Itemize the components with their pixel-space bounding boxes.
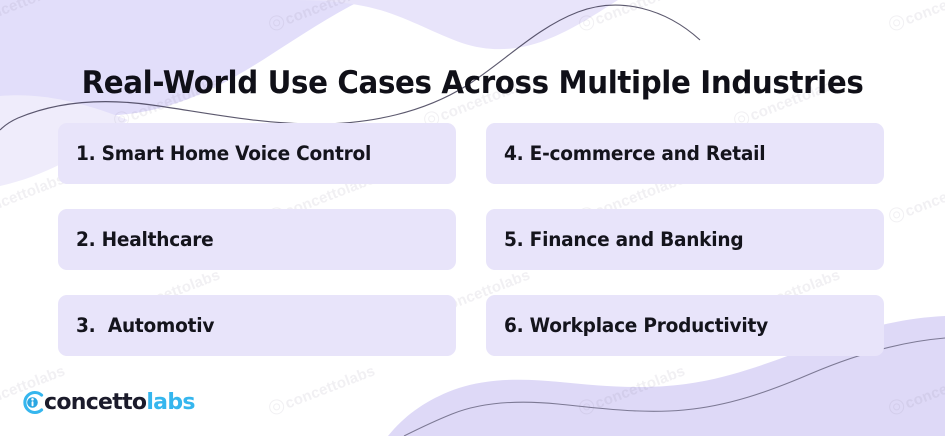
use-case-item-4[interactable]: 4. E-commerce and Retail	[486, 123, 884, 184]
watermark-text: concettolabs	[577, 0, 688, 34]
use-case-label: 1. Smart Home Voice Control	[76, 142, 371, 165]
copyright-circle-icon	[887, 205, 906, 224]
page-title: Real-World Use Cases Across Multiple Ind…	[33, 65, 912, 101]
use-case-label: 3. Automotiv	[76, 314, 214, 337]
watermark-text: concettolabs	[577, 362, 688, 418]
watermark-text: concettolabs	[267, 362, 378, 418]
copyright-circle-icon	[267, 13, 286, 32]
watermark-text: concettolabs	[887, 362, 945, 418]
logo-word-primary: concetto	[44, 392, 146, 414]
concetto-circle-icon	[20, 390, 45, 415]
use-case-label: 6. Workplace Productivity	[504, 314, 768, 337]
use-case-item-6[interactable]: 6. Workplace Productivity	[486, 295, 884, 356]
use-case-label: 5. Finance and Banking	[504, 228, 743, 251]
watermark-text: concettolabs	[887, 0, 945, 34]
use-case-grid: 1. Smart Home Voice Control 4. E-commerc…	[58, 123, 884, 356]
use-case-item-3[interactable]: 3. Automotiv	[58, 295, 456, 356]
use-case-label: 2. Healthcare	[76, 228, 213, 251]
copyright-circle-icon	[267, 397, 286, 416]
use-case-item-5[interactable]: 5. Finance and Banking	[486, 209, 884, 270]
use-case-item-1[interactable]: 1. Smart Home Voice Control	[58, 123, 456, 184]
watermark-text: concettolabs	[887, 170, 945, 226]
copyright-circle-icon	[577, 397, 596, 416]
top-center-blob	[288, 0, 618, 49]
watermark-text: concettolabs	[0, 0, 68, 34]
use-case-item-2[interactable]: 2. Healthcare	[58, 209, 456, 270]
use-case-label: 4. E-commerce and Retail	[504, 142, 765, 165]
logo-word-secondary: labs	[146, 392, 194, 414]
copyright-circle-icon	[887, 397, 906, 416]
concettolabs-logo[interactable]: concettolabs	[20, 390, 195, 415]
logo-wordmark: concettolabs	[44, 392, 195, 414]
copyright-circle-icon	[887, 13, 906, 32]
infographic-canvas: concettolabsconcettolabsconcettolabsconc…	[0, 0, 945, 436]
watermark-text: concettolabs	[267, 0, 378, 34]
copyright-circle-icon	[577, 13, 596, 32]
